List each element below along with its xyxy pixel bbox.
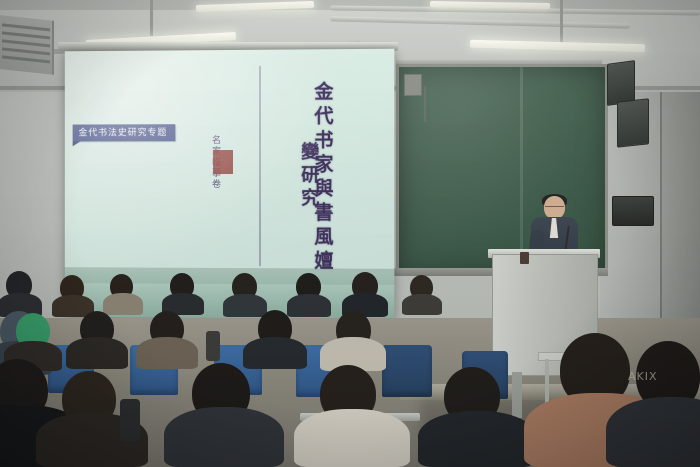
slide-ribbon-tail	[73, 141, 81, 146]
photo-scene: 金代书法史研究专题 金代书家與書風嬗 變研究 名家临摹卷	[0, 0, 700, 467]
projection-screen: 金代书法史研究专题 金代书家與書風嬗 變研究 名家临摹卷	[65, 49, 395, 320]
side-table-leg	[602, 359, 606, 403]
wall-junction-box	[404, 74, 422, 96]
podium-leg	[512, 372, 522, 418]
slide-title-column-2: 變研究	[295, 142, 321, 211]
wall-mounted-monitor	[612, 196, 654, 226]
cup-icon	[520, 252, 529, 264]
slide-divider	[259, 66, 261, 266]
wall-speaker-icon	[617, 98, 649, 147]
floor-shadow	[420, 398, 700, 438]
glasses-icon	[545, 206, 564, 211]
slide-ribbon-label: 金代书法史研究专题	[73, 124, 176, 141]
wall-cable	[424, 86, 426, 122]
lamp-stem	[560, 0, 563, 42]
wall-speaker-icon	[607, 60, 635, 106]
lamp-stem	[150, 0, 153, 36]
screen-bottom-band	[65, 271, 395, 319]
side-table-leg	[545, 359, 549, 403]
air-conditioning-vent	[0, 15, 54, 75]
seal-stamp-icon	[213, 150, 233, 174]
jacket-text: AKIX	[628, 370, 658, 383]
blackboard-panel-split	[520, 67, 523, 267]
